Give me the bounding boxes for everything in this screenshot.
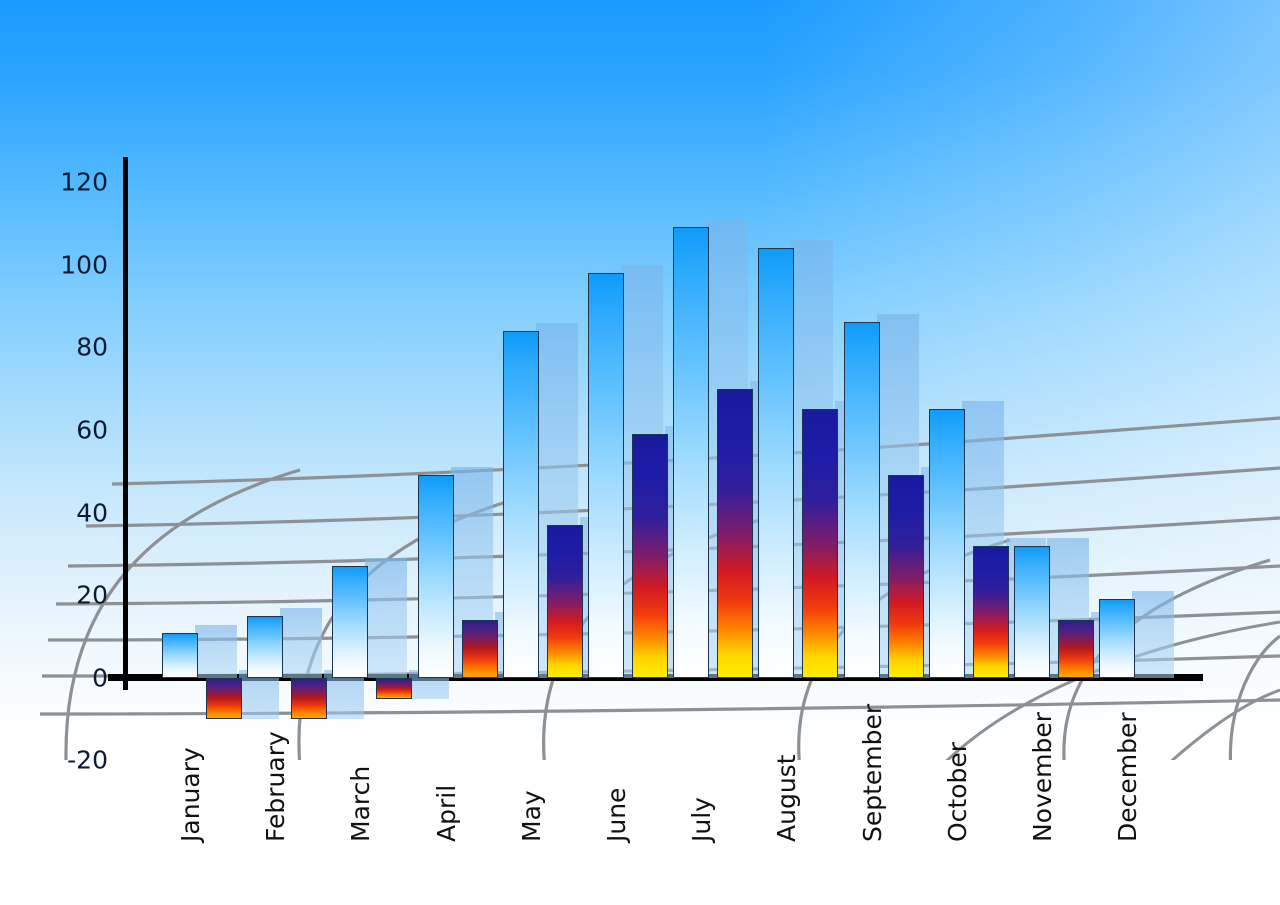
y-tick-label-0: 0 [92,664,108,693]
bar-hot-july[interactable] [717,389,753,678]
y-tick-label-80: 80 [76,333,108,362]
bar-hot-september[interactable] [888,475,924,678]
bar-hot-august[interactable] [802,409,838,678]
bar-chart-figure: 120 100 80 60 40 20 0 -20 JanuaryFebruar… [0,0,1280,905]
x-label-june: June [602,788,631,842]
bar-blue-september[interactable] [844,322,880,678]
x-label-august: August [772,755,801,843]
x-label-september: September [858,704,887,842]
x-label-february: February [261,731,290,842]
x-label-july: July [687,797,716,842]
bar-blue-january[interactable] [162,633,198,678]
y-tick-label-120: 120 [60,168,108,197]
bar-hot-june[interactable] [632,434,668,678]
bar-blue-august[interactable] [758,248,794,678]
bar-hot-march[interactable] [376,678,412,699]
x-label-november: November [1028,712,1057,842]
bar-blue-march[interactable] [332,566,368,678]
bar-hot-january[interactable] [206,678,242,719]
x-label-december: December [1113,712,1142,842]
bar-blue-may[interactable] [503,331,539,678]
x-label-may: May [517,790,546,842]
bar-shadow-blue-january [195,625,237,678]
x-label-april: April [432,785,461,842]
bar-hot-november[interactable] [1058,620,1094,678]
bar-blue-april[interactable] [418,475,454,678]
bar-blue-june[interactable] [588,273,624,678]
bar-shadow-blue-february [280,608,322,678]
bar-hot-february[interactable] [291,678,327,719]
bar-hot-april[interactable] [462,620,498,678]
bar-blue-july[interactable] [673,227,709,678]
y-axis-line [123,157,128,690]
bar-blue-november[interactable] [1014,546,1050,678]
y-tick-label-60: 60 [76,416,108,445]
x-label-january: January [176,747,205,842]
bar-hot-october[interactable] [973,546,1009,678]
bar-shadow-blue-march [365,558,407,678]
plot-area: 120 100 80 60 40 20 0 -20 JanuaryFebruar… [0,0,1280,905]
y-tick-label-20: 20 [76,581,108,610]
bar-blue-october[interactable] [929,409,965,678]
y-tick-label-minus-20: -20 [67,746,108,775]
x-label-march: March [346,766,375,842]
y-tick-label-40: 40 [76,499,108,528]
bar-blue-december[interactable] [1099,599,1135,678]
bar-blue-february[interactable] [247,616,283,678]
bar-hot-may[interactable] [547,525,583,678]
bar-shadow-blue-december [1132,591,1174,678]
y-tick-label-100: 100 [60,251,108,280]
x-label-october: October [943,742,972,842]
